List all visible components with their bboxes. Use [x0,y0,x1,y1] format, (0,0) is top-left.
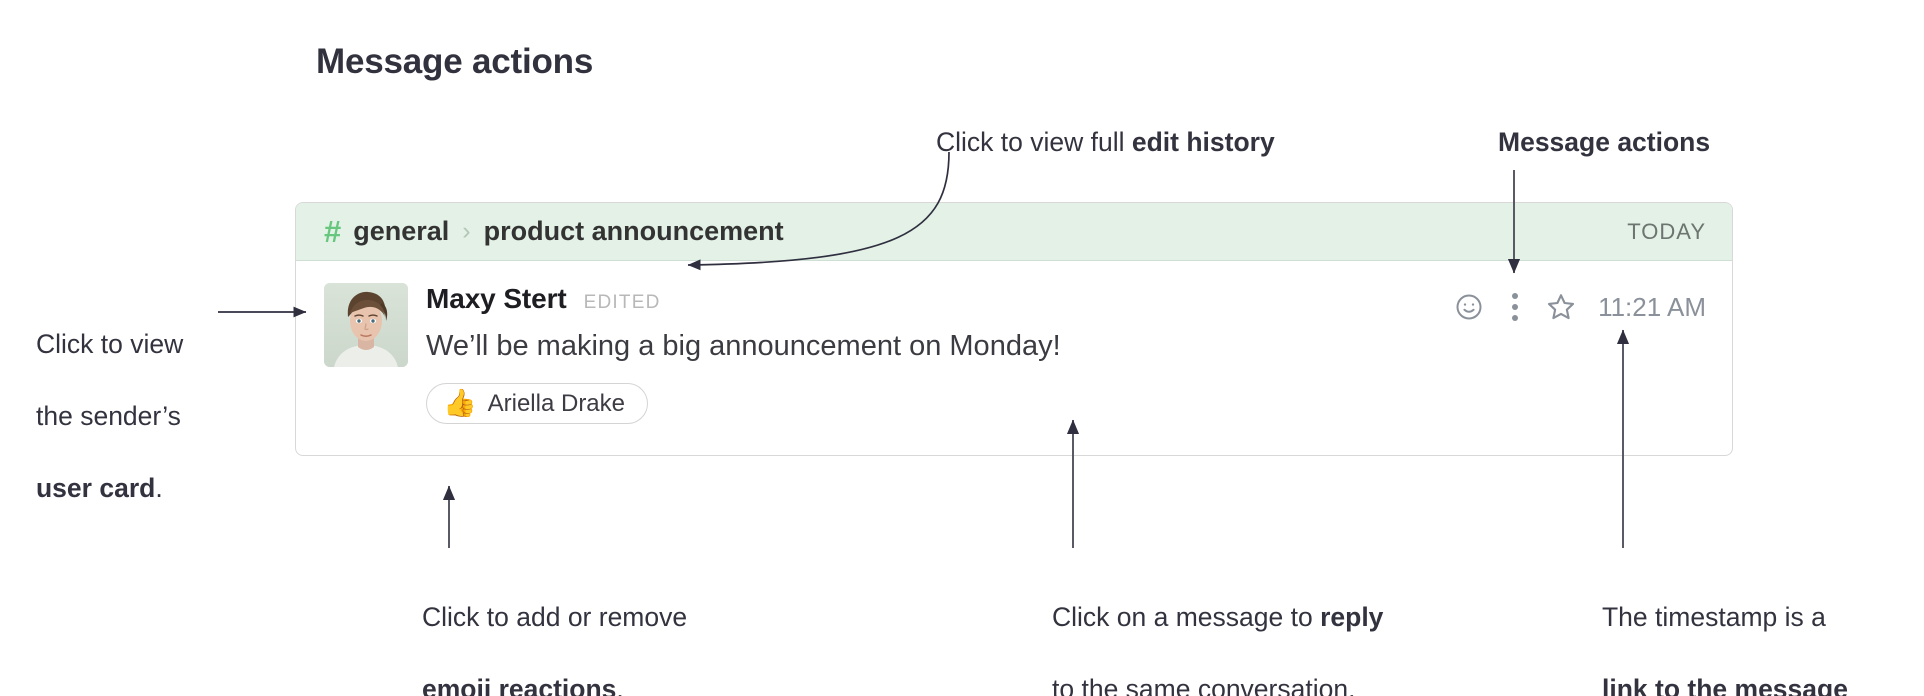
reaction-row: 👍 Ariella Drake [426,383,1706,424]
annotation-emoji-line1: Click to add or remove [422,599,687,635]
message-text[interactable]: We’ll be making a big announcement on Mo… [426,329,1706,363]
breadcrumb-channel[interactable]: general [353,216,449,247]
annotation-message-actions-line1: Message actions [1498,124,1710,160]
page-title: Message actions [316,42,593,82]
edited-badge[interactable]: EDITED [584,292,661,314]
emoji-reaction-icon[interactable] [1446,287,1492,327]
date-label: TODAY [1627,219,1706,245]
hash-icon: # [324,216,341,247]
annotation-timestamp-line2-bold: link to the message [1602,674,1848,696]
annotation-user-card-line1: Click to view [36,326,183,362]
star-icon[interactable] [1538,287,1584,327]
annotation-user-card-line2: the sender’s [36,398,183,434]
annotation-reply-line1-bold: reply [1320,602,1383,632]
annotation-emoji-line2-tail: . [616,674,623,696]
breadcrumb[interactable]: # general › product announcement [324,216,784,247]
chevron-right-icon: › [462,219,470,244]
annotation-reply-line1: Click on a message to reply [1052,599,1383,635]
reaction-user-label: Ariella Drake [488,392,625,416]
message-timestamp[interactable]: 11:21 AM [1598,292,1706,323]
annotation-timestamp-link: The timestamp is a link to the message (… [1602,563,1848,696]
annotation-edit-history-line1-bold: edit history [1132,127,1275,157]
thumbs-up-icon: 👍 [443,390,477,417]
annotation-reply-line2: to the same conversation. [1052,671,1383,696]
annotation-edit-history-line1: Click to view full edit history [936,124,1275,160]
annotation-emoji-reactions: Click to add or remove emoji reactions. [422,563,687,696]
annotation-user-card: Click to view the sender’s user card. [36,290,183,542]
chat-message-card: # general › product announcement TODAY [295,202,1733,456]
annotation-timestamp-line2: link to the message [1602,671,1848,696]
annotation-edit-history-line1-plain: Click to view full [936,127,1132,157]
annotation-reply-line1-plain: Click on a message to [1052,602,1320,632]
annotation-timestamp-line1: The timestamp is a [1602,599,1848,635]
breadcrumb-topic[interactable]: product announcement [484,216,784,247]
channel-header: # general › product announcement TODAY [296,203,1732,261]
avatar[interactable] [324,283,408,367]
annotation-message-actions-line1-bold: Message actions [1498,127,1710,157]
message-action-icons: 11:21 AM [1446,287,1706,327]
message-actions-menu-icon[interactable] [1492,287,1538,327]
annotation-emoji-line2: emoji reactions. [422,671,687,696]
annotation-user-card-line3-tail: . [155,473,162,503]
reaction-pill[interactable]: 👍 Ariella Drake [426,383,648,424]
message-body[interactable]: Maxy Stert EDITED We’ll be making a big … [296,261,1732,456]
vertical-dots-icon [1512,293,1518,321]
annotation-emoji-line2-bold: emoji reactions [422,674,616,696]
annotation-user-card-line3-bold: user card [36,473,155,503]
sender-name[interactable]: Maxy Stert [426,283,567,315]
annotation-reply: Click on a message to reply to the same … [1052,563,1383,696]
annotation-user-card-line3: user card. [36,470,183,506]
screenshot-root: Message actions Click to view full edit … [0,0,1924,696]
